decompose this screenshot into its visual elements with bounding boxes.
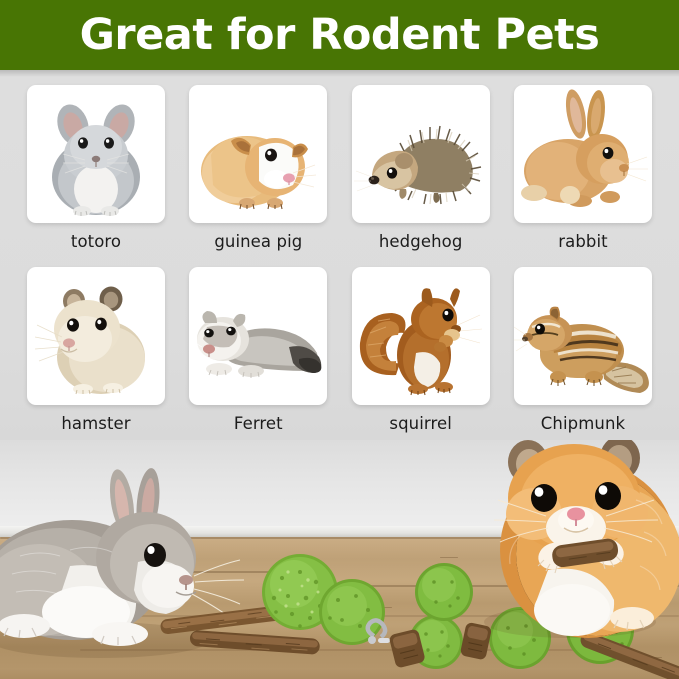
pet-photo-card-chipmunk	[514, 267, 652, 405]
pet-label-totoro: totoro	[71, 232, 121, 251]
ferret-illustration	[189, 267, 327, 405]
pet-label-guinea-pig: guinea pig	[214, 232, 302, 251]
scene-rabbit	[0, 467, 244, 658]
pet-photo-card-hamster	[27, 267, 165, 405]
pet-cell-chipmunk: Chipmunk	[509, 267, 657, 433]
pet-grid-row-2: hamster	[22, 267, 657, 433]
pet-grid-row-1: totoro	[22, 85, 657, 251]
pet-cell-hedgehog: hedgehog	[347, 85, 495, 251]
pet-cell-rabbit: rabbit	[509, 85, 657, 251]
pet-cell-hamster: hamster	[22, 267, 170, 433]
pet-grid: totoro	[0, 77, 679, 445]
pet-label-chipmunk: Chipmunk	[541, 414, 625, 433]
pet-cell-totoro: totoro	[22, 85, 170, 251]
banner-shadow	[0, 70, 679, 77]
header-banner: Great for Rodent Pets	[0, 0, 679, 70]
hedgehog-illustration	[352, 85, 490, 223]
pet-label-squirrel: squirrel	[389, 414, 452, 433]
pet-label-hedgehog: hedgehog	[379, 232, 463, 251]
guinea-pig-illustration	[189, 85, 327, 223]
pet-cell-guinea-pig: guinea pig	[184, 85, 332, 251]
pet-photo-card-squirrel	[352, 267, 490, 405]
pet-photo-card-hedgehog	[352, 85, 490, 223]
pet-cell-squirrel: squirrel	[347, 267, 495, 433]
pet-photo-card-chinchilla	[27, 85, 165, 223]
pet-photo-card-guinea-pig	[189, 85, 327, 223]
page-title: Great for Rodent Pets	[80, 10, 600, 60]
chinchilla-illustration	[27, 85, 165, 223]
lifestyle-scene-illustration	[0, 440, 679, 679]
pet-label-rabbit: rabbit	[558, 232, 608, 251]
hamster-illustration	[27, 267, 165, 405]
chipmunk-illustration	[514, 267, 652, 405]
rabbit-illustration	[514, 85, 652, 223]
pet-label-ferret: Ferret	[234, 414, 283, 433]
product-infographic: Great for Rodent Pets	[0, 0, 679, 679]
pet-photo-card-ferret	[189, 267, 327, 405]
pet-cell-ferret: Ferret	[184, 267, 332, 433]
squirrel-illustration	[352, 267, 490, 405]
pet-photo-card-rabbit	[514, 85, 652, 223]
lifestyle-photo	[0, 440, 679, 679]
pet-label-hamster: hamster	[61, 414, 130, 433]
